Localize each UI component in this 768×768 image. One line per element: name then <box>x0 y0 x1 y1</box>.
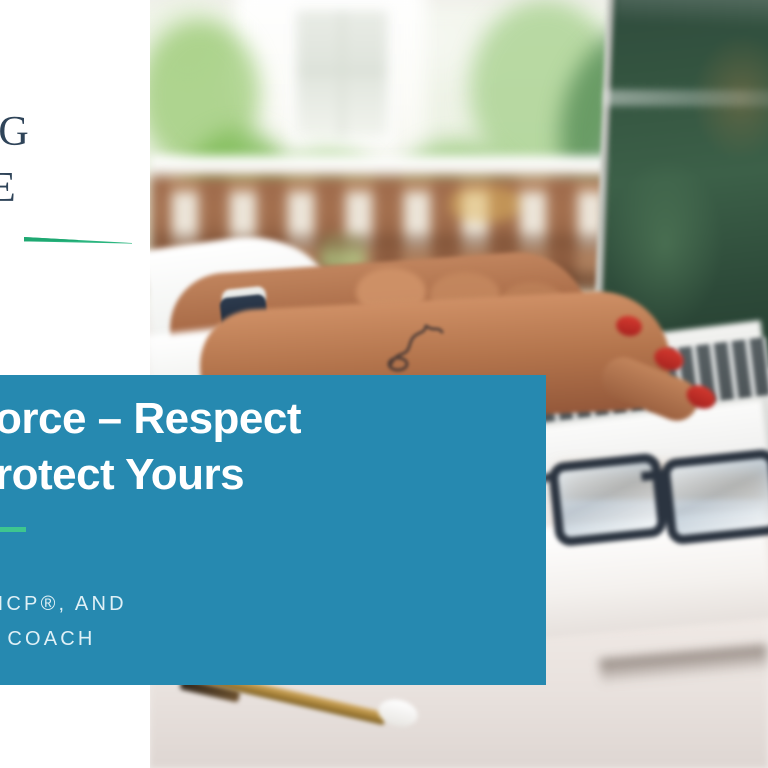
overlay-subtitle-line-2: A®, RICP®, AND <box>0 587 540 622</box>
title-divider <box>0 527 26 532</box>
overlay-subtitle-line-1: DGES <box>0 552 540 587</box>
eyeglass-lens <box>548 452 668 547</box>
logo-tagline: s <box>0 220 150 236</box>
featured-image-graphic: NG CE s Divorce – Respect d Protect Your… <box>0 0 768 768</box>
hand-tattoo-icon <box>380 318 470 376</box>
overlay-title-line-2: d Protect Yours <box>0 447 540 503</box>
overlay-subtitle-line-3: ORCE COACH <box>0 622 540 657</box>
green-swoosh-icon <box>24 236 132 244</box>
eyeglasses <box>543 432 768 565</box>
overlay-title-line-1: Divorce – Respect <box>0 391 540 447</box>
building-window <box>296 10 388 138</box>
brand-logo[interactable]: NG CE s <box>0 104 150 236</box>
logo-line-1: NG <box>0 104 150 160</box>
logo-line-2: CE <box>0 160 150 216</box>
eyeglass-lens <box>660 448 768 546</box>
title-overlay-panel: Divorce – Respect d Protect Yours DGES A… <box>0 375 546 685</box>
